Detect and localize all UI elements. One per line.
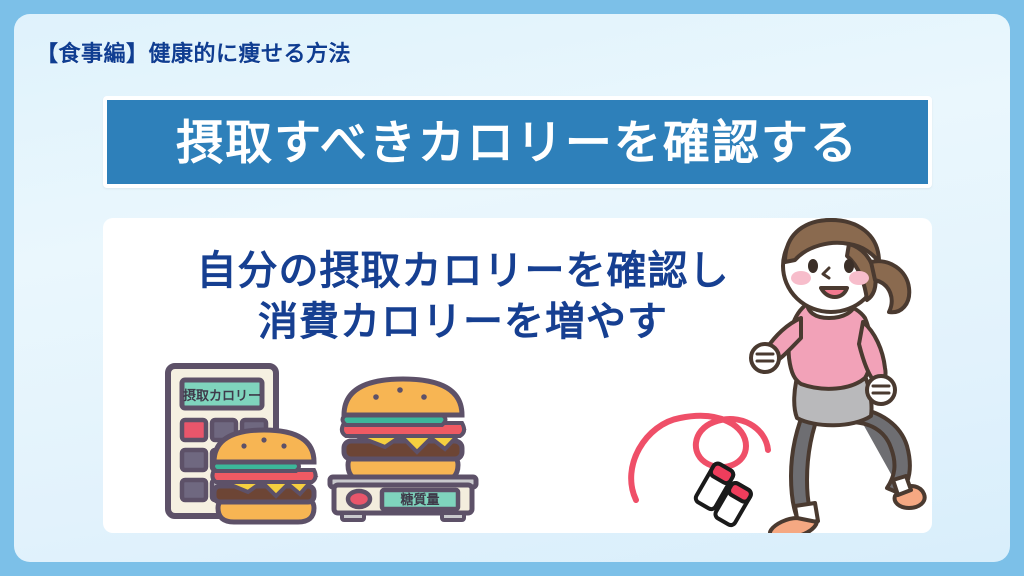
slide-root: 【食事編】健康的に痩せる方法 摂取すべきカロリーを確認する 自分の摂取カロリーを…	[0, 0, 1024, 576]
slide-title-bar: 摂取すべきカロリーを確認する	[103, 96, 932, 188]
slide-kicker: 【食事編】健康的に痩せる方法	[36, 36, 351, 68]
burger-on-scale-icon	[342, 379, 464, 481]
scale-illustration: 糖質量	[318, 373, 493, 523]
illustration-area: 摂取カロリー	[103, 218, 932, 533]
slide-title: 摂取すべきカロリーを確認する	[176, 119, 859, 166]
burger-small-icon	[212, 430, 315, 522]
scale-display-label: 糖質量	[400, 492, 439, 507]
runner-illustration	[703, 218, 932, 533]
content-card: 自分の摂取カロリーを確認し 消費カロリーを増やす 摂取カロリー	[103, 218, 932, 533]
calculator-display-label: 摂取カロリー	[183, 388, 261, 403]
